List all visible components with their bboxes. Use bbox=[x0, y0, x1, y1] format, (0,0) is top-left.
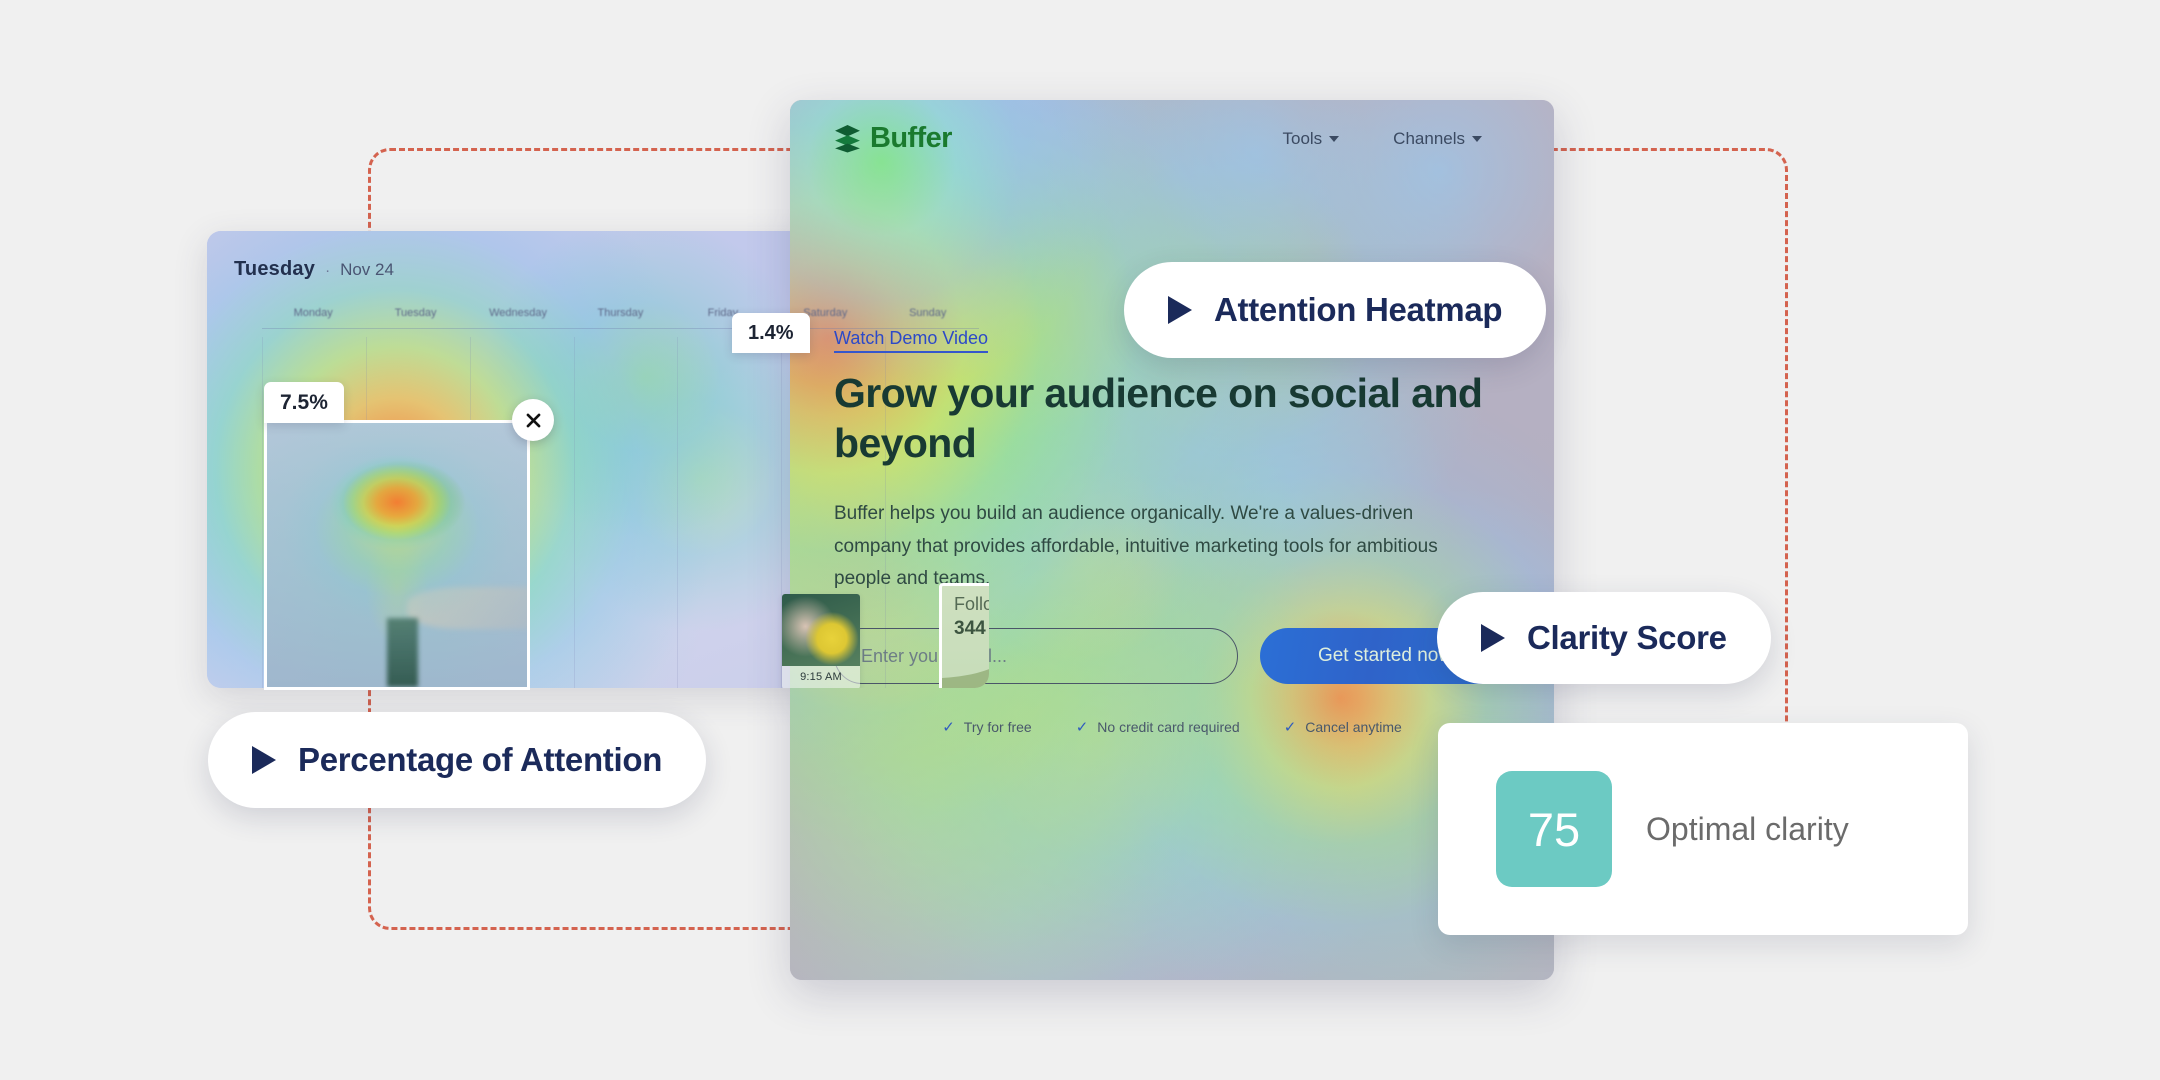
reassurance-label: No credit card required bbox=[1097, 719, 1239, 735]
buffer-layers-icon bbox=[834, 124, 861, 153]
callout-attention-heatmap[interactable]: Attention Heatmap bbox=[1124, 262, 1546, 358]
play-triangle-icon bbox=[1168, 296, 1192, 324]
attention-badge-image-post: 7.5% bbox=[264, 382, 344, 423]
calendar-weekday-row: Monday Tuesday Wednesday Thursday Friday… bbox=[262, 307, 979, 329]
calendar-header: Tuesday · Nov 24 bbox=[234, 258, 394, 281]
image-heatmap-overlay bbox=[267, 423, 527, 687]
nav-item-channels-label: Channels bbox=[1393, 129, 1465, 149]
close-icon-button[interactable] bbox=[512, 399, 554, 441]
followers-value: 344 bbox=[954, 618, 989, 640]
weekday-tuesday[interactable]: Tuesday bbox=[364, 307, 466, 319]
email-input[interactable]: Enter your email... bbox=[834, 628, 1238, 684]
calendar-column bbox=[677, 337, 781, 688]
followers-label: Followers bbox=[954, 594, 989, 615]
weekday-wednesday[interactable]: Wednesday bbox=[467, 307, 569, 319]
reassurance-list: ✓ Try for free ✓ No credit card required… bbox=[834, 718, 1510, 736]
signup-form: Enter your email... Get started now bbox=[834, 628, 1510, 684]
followers-card: Followers 344 bbox=[939, 583, 989, 688]
reassurance-label: Cancel anytime bbox=[1305, 719, 1402, 735]
post-time-label: 9:15 AM bbox=[782, 666, 860, 688]
check-icon: ✓ bbox=[942, 718, 955, 736]
nav-item-tools[interactable]: Tools bbox=[1282, 129, 1339, 149]
buffer-wordmark: Buffer bbox=[870, 122, 952, 155]
screenshot-stage: Tuesday · Nov 24 Monday Tuesday Wednesda… bbox=[0, 0, 2160, 1080]
reassurance-cancel-anytime: ✓ Cancel anytime bbox=[1284, 718, 1402, 736]
buffer-headline: Grow your audience on social and beyond bbox=[834, 368, 1524, 468]
weekday-thursday[interactable]: Thursday bbox=[569, 307, 671, 319]
chevron-down-icon bbox=[1472, 136, 1482, 142]
scheduled-post-thumbnail[interactable]: 9:15 AM bbox=[782, 594, 860, 688]
buffer-subheadline: Buffer helps you build an audience organ… bbox=[834, 498, 1494, 596]
buffer-logo[interactable]: Buffer bbox=[834, 122, 952, 155]
weekday-sunday[interactable]: Sunday bbox=[877, 307, 979, 319]
play-triangle-icon bbox=[1481, 624, 1505, 652]
callout-percentage-of-attention[interactable]: Percentage of Attention bbox=[208, 712, 706, 808]
nav-item-tools-label: Tools bbox=[1282, 129, 1322, 149]
buffer-navbar: Buffer Tools Channels bbox=[790, 122, 1554, 155]
callout-label: Attention Heatmap bbox=[1214, 291, 1502, 329]
followers-number: 344 bbox=[954, 618, 986, 640]
reassurance-label: Try for free bbox=[964, 719, 1032, 735]
calendar-day-label: Tuesday bbox=[234, 258, 315, 281]
check-icon: ✓ bbox=[1284, 718, 1297, 736]
calendar-date-label: Nov 24 bbox=[340, 260, 394, 280]
callout-label: Clarity Score bbox=[1527, 619, 1727, 657]
weekday-monday[interactable]: Monday bbox=[262, 307, 364, 319]
clarity-score-value: 75 bbox=[1496, 771, 1612, 887]
post-image bbox=[782, 594, 860, 666]
reassurance-no-credit-card: ✓ No credit card required bbox=[1076, 718, 1240, 736]
attention-badge-followers-chart: 1.4% bbox=[732, 313, 810, 353]
calendar-separator: · bbox=[325, 262, 330, 279]
close-icon bbox=[524, 411, 543, 430]
chevron-down-icon bbox=[1329, 136, 1339, 142]
reassurance-try-for-free: ✓ Try for free bbox=[942, 718, 1032, 736]
clarity-score-card: 75 Optimal clarity bbox=[1438, 723, 1968, 935]
nav-item-channels[interactable]: Channels bbox=[1393, 129, 1482, 149]
calendar-column bbox=[574, 337, 678, 688]
image-post-card[interactable] bbox=[264, 420, 530, 690]
buffer-nav-links: Tools Channels bbox=[1282, 129, 1510, 149]
callout-label: Percentage of Attention bbox=[298, 741, 662, 779]
watch-demo-video-link[interactable]: Watch Demo Video bbox=[834, 328, 988, 353]
callout-clarity-score[interactable]: Clarity Score bbox=[1437, 592, 1771, 684]
play-triangle-icon bbox=[252, 746, 276, 774]
clarity-score-label: Optimal clarity bbox=[1646, 811, 1849, 848]
check-icon: ✓ bbox=[1076, 718, 1089, 736]
